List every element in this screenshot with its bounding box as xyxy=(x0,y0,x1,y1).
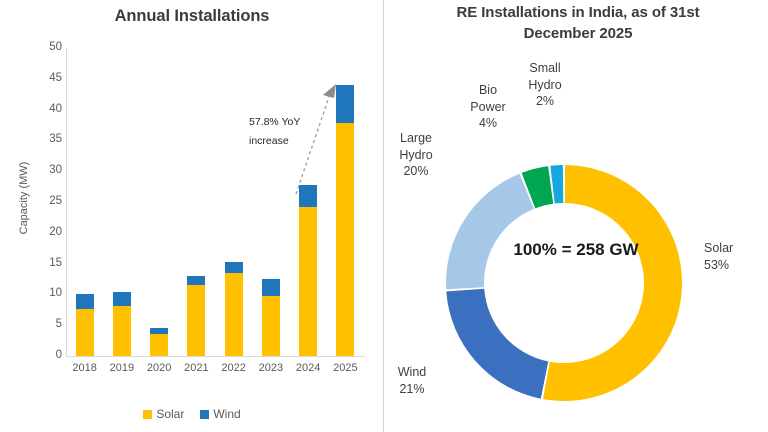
y-tick-label: 35 xyxy=(36,134,62,146)
bar-column-2020 xyxy=(150,328,168,356)
bar-segment-solar xyxy=(336,123,354,356)
y-tick-label: 10 xyxy=(36,288,62,300)
donut-label-wind: Wind 21% xyxy=(383,364,441,397)
y-tick-label: 0 xyxy=(36,350,62,362)
legend-item-wind[interactable]: Wind xyxy=(200,407,240,421)
x-tick-label-2019: 2019 xyxy=(102,362,142,374)
legend-label: Solar xyxy=(156,407,184,421)
re-installations-donut-chart: RE Installations in India, as of 31st De… xyxy=(384,0,768,432)
bar-segment-solar xyxy=(76,309,94,356)
legend-swatch-icon xyxy=(200,410,209,419)
y-tick-label: 5 xyxy=(36,319,62,331)
x-tick-label-2024: 2024 xyxy=(288,362,328,374)
wind-label-pct: 21% xyxy=(383,381,441,398)
bar-column-2022 xyxy=(225,262,243,356)
bar-segment-wind xyxy=(299,185,317,207)
bar-segment-solar xyxy=(225,273,243,356)
large-label-pct: 20% xyxy=(385,163,447,180)
legend-item-solar[interactable]: Solar xyxy=(143,407,184,421)
x-tick-label-2022: 2022 xyxy=(214,362,254,374)
y-tick-label: 20 xyxy=(36,227,62,239)
y-tick-label: 40 xyxy=(36,104,62,116)
donut-label-bio-power: Bio Power 4% xyxy=(462,82,514,132)
bio-label-l1: Bio xyxy=(462,82,514,99)
large-label-l2: Hydro xyxy=(385,147,447,164)
x-axis-line xyxy=(66,356,365,357)
dual-chart-figure: Annual Installations Capacity (MW) 05101… xyxy=(0,0,768,432)
small-label-l1: Small xyxy=(516,60,574,77)
x-tick-label-2021: 2021 xyxy=(176,362,216,374)
small-label-l2: Hydro xyxy=(516,77,574,94)
donut-label-solar: Solar 53% xyxy=(704,240,766,273)
bar-column-2018 xyxy=(76,294,94,356)
bar-segment-solar xyxy=(150,334,168,356)
yoy-annotation: 57.8% YoY increase xyxy=(249,113,323,152)
annual-installations-chart: Annual Installations Capacity (MW) 05101… xyxy=(0,0,384,432)
bar-segment-wind xyxy=(225,262,243,273)
bar-chart-title: Annual Installations xyxy=(20,7,364,26)
bar-column-2024 xyxy=(299,185,317,356)
x-tick-label-2020: 2020 xyxy=(139,362,179,374)
bio-label-l2: Power xyxy=(462,99,514,116)
bar-column-2023 xyxy=(262,279,280,356)
x-tick-label-2023: 2023 xyxy=(251,362,291,374)
donut-slice-solar[interactable] xyxy=(543,165,682,401)
large-label-l1: Large xyxy=(385,130,447,147)
x-tick-label-2025: 2025 xyxy=(325,362,365,374)
donut-label-large-hydro: Large Hydro 20% xyxy=(385,130,447,180)
y-tick-label: 45 xyxy=(36,73,62,85)
y-tick-label: 25 xyxy=(36,196,62,208)
bar-segment-wind xyxy=(113,292,131,306)
solar-label-pct: 53% xyxy=(704,257,766,274)
bar-segment-solar xyxy=(113,306,131,357)
donut-label-small-hydro: Small Hydro 2% xyxy=(516,60,574,110)
bar-chart-legend: SolarWind xyxy=(0,407,384,421)
x-tick-label-2018: 2018 xyxy=(65,362,105,374)
solar-label-l1: Solar xyxy=(704,240,766,257)
y-tick-label: 30 xyxy=(36,165,62,177)
y-axis-ticks: 05101520253035404550 xyxy=(20,0,62,432)
bar-segment-solar xyxy=(262,296,280,356)
bar-segment-solar xyxy=(187,285,205,356)
bar-segment-wind xyxy=(336,85,354,123)
donut-slice-wind[interactable] xyxy=(446,289,548,399)
bar-column-2021 xyxy=(187,276,205,356)
yoy-annotation-line2: increase xyxy=(249,132,323,151)
bar-plot-area xyxy=(66,48,364,356)
bio-label-pct: 4% xyxy=(462,115,514,132)
legend-swatch-icon xyxy=(143,410,152,419)
bar-segment-solar xyxy=(299,207,317,356)
donut-center-total: 100% = 258 GW xyxy=(484,240,668,260)
y-tick-label: 15 xyxy=(36,258,62,270)
donut-slice-large-hydro[interactable] xyxy=(446,174,534,290)
wind-label-l1: Wind xyxy=(383,364,441,381)
small-label-pct: 2% xyxy=(516,93,574,110)
donut-svg xyxy=(384,0,768,432)
bar-segment-wind xyxy=(76,294,94,309)
yoy-annotation-line1: 57.8% YoY xyxy=(249,113,323,132)
bar-column-2019 xyxy=(113,292,131,356)
legend-label: Wind xyxy=(213,407,240,421)
bar-segment-wind xyxy=(187,276,205,285)
y-tick-label: 50 xyxy=(36,42,62,54)
bar-column-2025 xyxy=(336,85,354,356)
bar-segment-wind xyxy=(262,279,280,296)
